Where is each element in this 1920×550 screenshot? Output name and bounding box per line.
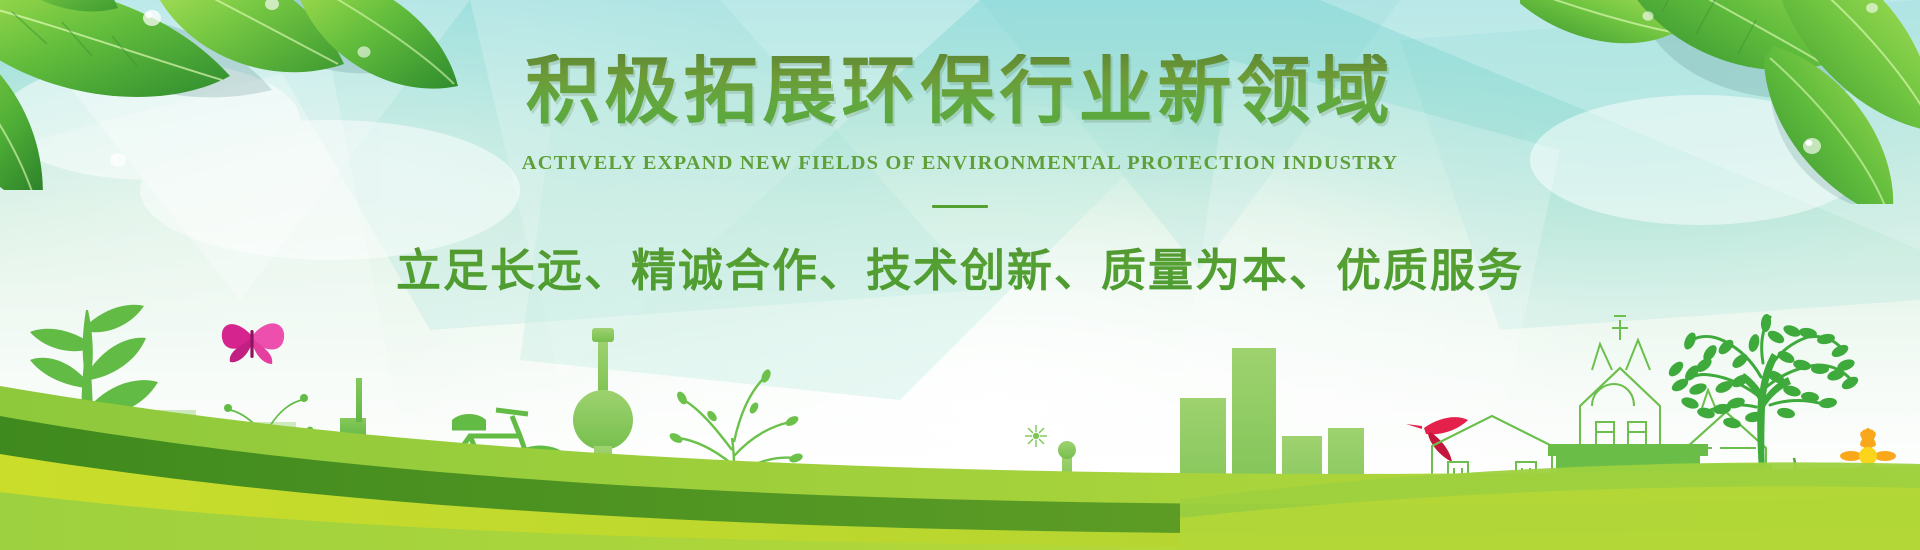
eco-banner: 积极拓展环保行业新领域 积极拓展环保行业新领域 ACTIVELY EXPAND … bbox=[0, 0, 1920, 550]
title-divider bbox=[932, 205, 988, 208]
page-title: 积极拓展环保行业新领域 bbox=[0, 54, 1920, 131]
ribbon-icon bbox=[0, 340, 1920, 550]
slogan-text: 立足长远、精诚合作、技术创新、质量为本、优质服务 bbox=[0, 234, 1920, 299]
subtitle-english: ACTIVELY EXPAND NEW FIELDS OF ENVIRONMEN… bbox=[0, 152, 1920, 175]
banner-text-block: 积极拓展环保行业新领域 积极拓展环保行业新领域 ACTIVELY EXPAND … bbox=[0, 54, 1920, 299]
main-title-wrap: 积极拓展环保行业新领域 积极拓展环保行业新领域 bbox=[0, 54, 1920, 131]
